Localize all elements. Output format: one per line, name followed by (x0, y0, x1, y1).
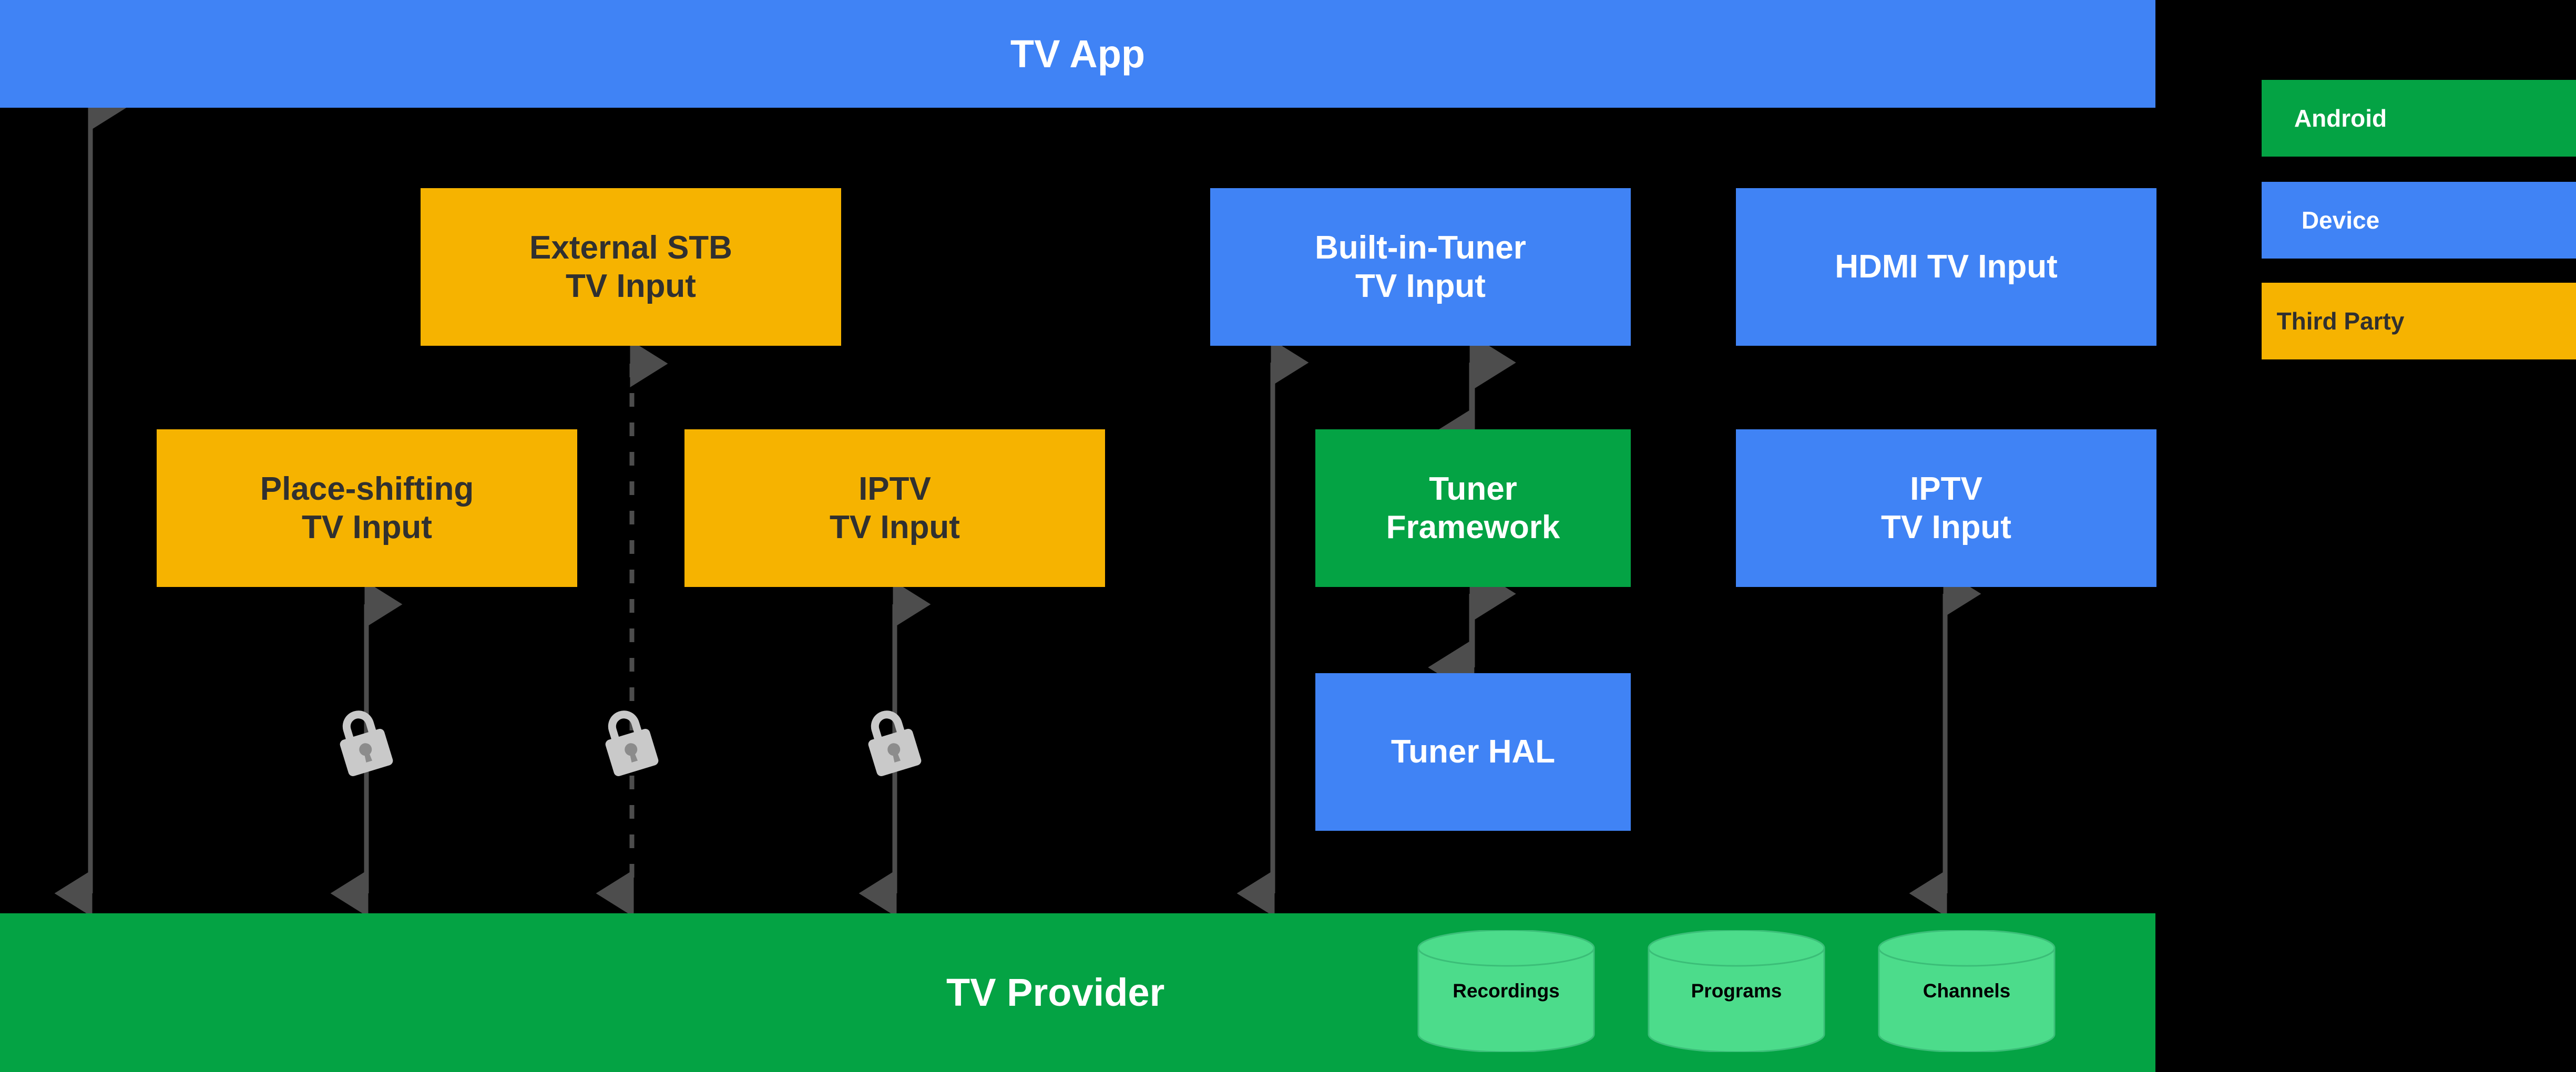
legend-label: Third Party (2277, 307, 2405, 335)
cylinder-channels[interactable]: Channels (1875, 930, 2059, 1052)
legend-item-third-party[interactable]: Third Party (2262, 283, 2576, 359)
tv-provider-label-wrap: TV Provider (0, 913, 2155, 1072)
tv-app-bar[interactable]: TV App (0, 0, 2155, 108)
node-label: External STB TV Input (529, 229, 732, 305)
node-label: Tuner HAL (1391, 733, 1555, 771)
lock-icon (597, 705, 660, 778)
cylinder-shape (1644, 930, 1828, 1052)
legend-item-device[interactable]: Device (2262, 182, 2576, 259)
cylinder-shape (1414, 930, 1598, 1052)
node-label: IPTV TV Input (1881, 470, 2011, 547)
lock-icon (332, 705, 394, 778)
node-external-stb-tv-input[interactable]: External STB TV Input (421, 188, 841, 346)
node-label: HDMI TV Input (1835, 248, 2058, 286)
legend-item-android[interactable]: Android (2262, 80, 2576, 157)
lock-icon (860, 705, 923, 778)
cylinder-shape (1875, 930, 2059, 1052)
cylinder-programs[interactable]: Programs (1644, 930, 1828, 1052)
node-iptv-tv-input-device[interactable]: IPTV TV Input (1736, 429, 2156, 587)
node-label: Tuner Framework (1386, 470, 1560, 547)
tv-app-label: TV App (1010, 31, 1145, 77)
node-label: IPTV TV Input (830, 470, 960, 547)
node-tuner-hal[interactable]: Tuner HAL (1315, 673, 1631, 831)
cylinder-recordings[interactable]: Recordings (1414, 930, 1598, 1052)
node-place-shifting-tv-input[interactable]: Place-shifting TV Input (157, 429, 577, 587)
node-label: Place-shifting TV Input (260, 470, 474, 547)
node-hdmi-tv-input[interactable]: HDMI TV Input (1736, 188, 2156, 346)
legend-label: Android (2294, 104, 2387, 132)
legend-label: Device (2302, 206, 2379, 234)
node-iptv-tv-input-third-party[interactable]: IPTV TV Input (684, 429, 1105, 587)
diagram-canvas: TV App External STB TV Input Place-shift… (0, 0, 2576, 1072)
tv-provider-label: TV Provider (946, 970, 1164, 1015)
node-built-in-tuner-tv-input[interactable]: Built-in-Tuner TV Input (1210, 188, 1631, 346)
node-tuner-framework[interactable]: Tuner Framework (1315, 429, 1631, 587)
node-label: Built-in-Tuner TV Input (1315, 229, 1526, 305)
